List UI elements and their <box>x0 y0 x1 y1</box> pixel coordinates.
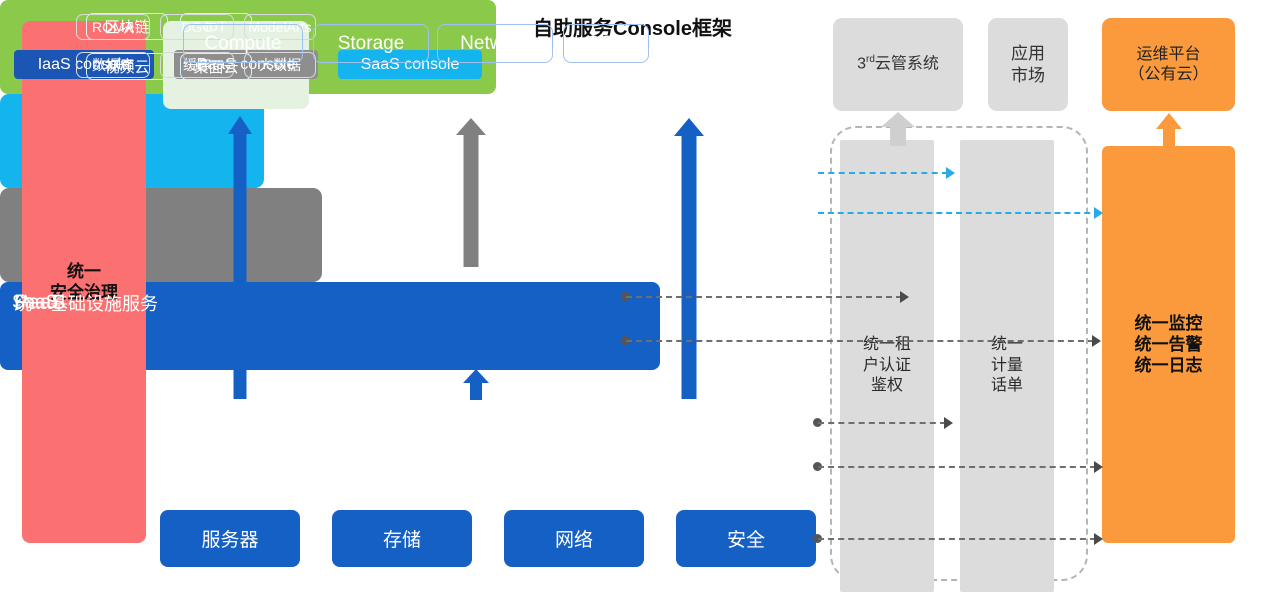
infra-chip-cce[interactable]: CCE <box>563 24 649 63</box>
arrow-head-icon <box>1094 461 1103 473</box>
third-party-superscript: rd <box>866 54 875 65</box>
resource-box-storage-label: 存储 <box>383 525 421 552</box>
infra-chip-network-label: Network <box>460 33 530 55</box>
arrow-shaft <box>464 132 479 267</box>
app-market-label: 应用 市场 <box>1011 43 1045 86</box>
infra-chip-cce-label: CCE <box>586 33 626 55</box>
arrow-shaft <box>470 382 482 400</box>
arrow-head-icon <box>1094 533 1103 545</box>
security-governance-panel[interactable]: 统一 安全治理 <box>22 21 146 543</box>
arrow-infra-to-paas <box>462 369 490 400</box>
infra-chip-storage-label: Storage <box>338 33 405 55</box>
app-market-box[interactable]: 应用 市场 <box>988 18 1068 111</box>
shared-service-metering-billing-label: 统一 计量 话单 <box>991 335 1023 397</box>
arrow-head-icon <box>881 112 915 127</box>
arrow-shaft <box>1163 128 1175 146</box>
resource-box-security-label: 安全 <box>727 525 765 552</box>
resource-box-server[interactable]: 服务器 <box>160 510 300 567</box>
arrow-shaft <box>682 133 697 399</box>
arrow-head-icon <box>1156 113 1182 129</box>
architecture-diagram: 统一 安全治理 API网关 自助服务Console框架 IaaS console… <box>0 0 1265 605</box>
ops-platform-top-box[interactable]: 运维平台 （公有云） <box>1102 18 1235 111</box>
infra-chip-compute-label: Compute <box>204 33 281 55</box>
infra-chip-compute[interactable]: Compute <box>183 24 303 63</box>
arrow-infra-to-api-gateway <box>224 116 256 399</box>
arrow-ops-main-to-ops-top <box>1154 113 1184 146</box>
arrow-head-icon <box>463 369 489 383</box>
connector-resources-to-ops <box>818 538 1096 540</box>
infra-chip-network[interactable]: Network <box>437 24 553 63</box>
arrow-head-icon <box>944 417 953 429</box>
shared-service-metering-billing[interactable]: 统一 计量 话单 <box>960 140 1054 592</box>
arrow-paas-to-console <box>454 118 488 267</box>
ops-platform-main-label: 统一监控 统一告警 统一日志 <box>1135 313 1203 377</box>
paas-chip-database[interactable]: 数据库 <box>76 52 150 78</box>
shared-service-tenant-auth-label: 统一租 户认证 鉴权 <box>863 335 911 397</box>
connector-saas-to-billing <box>818 172 948 174</box>
third-party-suffix: 云管系统 <box>875 56 939 73</box>
paas-chip-roma[interactable]: ROMA <box>76 14 150 40</box>
resource-box-network-label: 网络 <box>555 525 593 552</box>
resource-box-storage[interactable]: 存储 <box>332 510 472 567</box>
arrow-shaft <box>890 126 906 146</box>
unified-infrastructure-label: 统一基础设施服务 <box>14 290 158 316</box>
resource-box-security[interactable]: 安全 <box>676 510 816 567</box>
shared-service-tenant-auth[interactable]: 统一租 户认证 鉴权 <box>840 140 934 592</box>
arrow-shared-to-third-party-cloud <box>881 112 915 146</box>
resource-box-network[interactable]: 网络 <box>504 510 644 567</box>
arrow-head-icon <box>1094 207 1103 219</box>
ops-platform-main-panel[interactable]: 统一监控 统一告警 统一日志 <box>1102 146 1235 543</box>
infra-chip-storage[interactable]: Storage <box>313 24 429 63</box>
arrow-shaft <box>234 130 247 399</box>
ops-platform-top-label: 运维平台 （公有云） <box>1128 45 1208 85</box>
connector-saas-to-ops <box>818 212 1100 214</box>
connector-infra-to-ops <box>818 466 1096 468</box>
third-party-cloud-mgmt-box[interactable]: 3rd云管系统 <box>833 18 963 111</box>
arrow-head-icon <box>1092 335 1101 347</box>
connector-paas-to-billing <box>626 296 902 298</box>
third-party-cloud-mgmt-label: 3rd云管系统 <box>857 54 939 74</box>
arrow-head-icon <box>900 291 909 303</box>
resource-box-server-label: 服务器 <box>201 525 258 552</box>
arrow-saas-to-saas-console <box>672 118 706 399</box>
connector-infra-to-billing <box>818 422 946 424</box>
connector-paas-to-ops <box>626 340 1094 342</box>
arrow-head-icon <box>946 167 955 179</box>
paas-chip-roma-label: ROMA <box>92 19 134 35</box>
paas-chip-database-label: 数据库 <box>92 55 134 75</box>
third-party-prefix: 3 <box>857 56 866 73</box>
